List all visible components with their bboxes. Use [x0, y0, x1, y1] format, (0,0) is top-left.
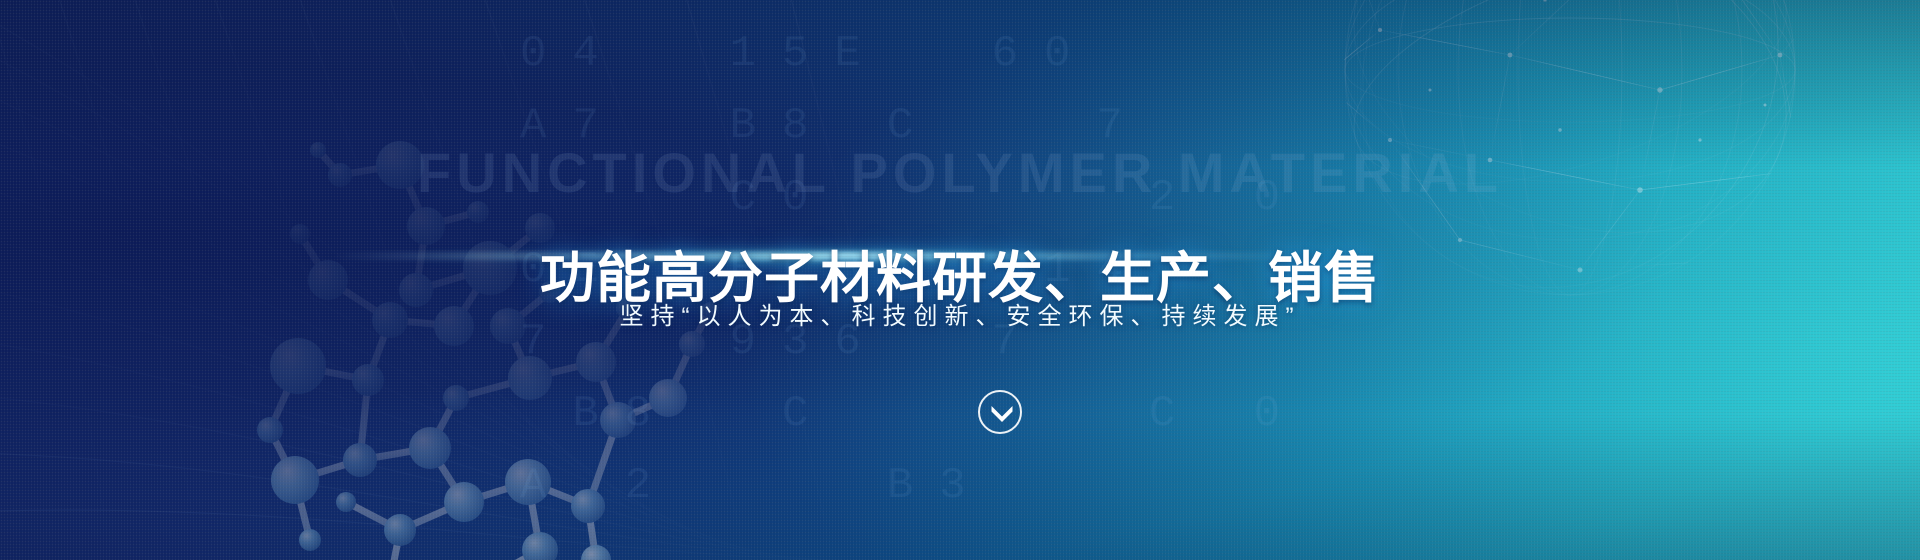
- hero-banner: 04 15E 60 A7 B8 C 7 C0 2 0 0E BE3 14 7 9…: [0, 0, 1920, 560]
- scroll-down-button[interactable]: [978, 390, 1022, 434]
- banner-content: 功能高分子材料研发、生产、销售 坚持“以人为本、科技创新、安全环保、持续发展”: [0, 0, 1920, 560]
- chevron-down-icon: [990, 405, 1014, 423]
- banner-subheadline: 坚持“以人为本、科技创新、安全环保、持续发展”: [0, 296, 1920, 331]
